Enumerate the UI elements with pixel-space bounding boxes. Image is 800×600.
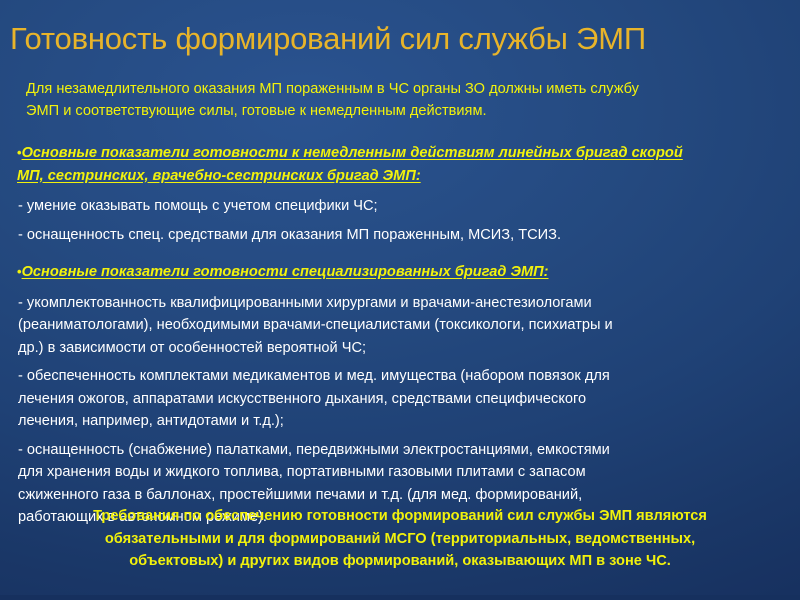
spacer: [16, 131, 786, 142]
section-1-item-1-line-1: - умение оказывать помощь с учетом специ…: [18, 195, 782, 218]
section-1-item-2-line-1: - оснащенность спец. средствами для оказ…: [18, 224, 782, 247]
section-1-heading-text-2: МП, сестринских, врачебно-сестринских бр…: [17, 168, 421, 184]
intro-paragraph: Для незамедлительного оказания МП пораже…: [16, 78, 786, 122]
section-1-heading-line-1: •Основные показатели готовности к немедл…: [17, 142, 786, 165]
section-1-item-2: - оснащенность спец. средствами для оказ…: [16, 224, 786, 247]
section-1-item-1: - умение оказывать помощь с учетом специ…: [16, 195, 786, 218]
section-2-item-1-line-1: - укомплектованность квалифицированными …: [18, 292, 782, 315]
slide-canvas: Готовность формирований сил службы ЭМП Д…: [0, 0, 800, 600]
intro-line-1: Для незамедлительного оказания МП пораже…: [26, 78, 778, 100]
section-2-item-3-line-2: для хранения воды и жидкого топлива, пор…: [18, 461, 782, 484]
section-2-item-2: - обеспеченность комплектами медикаменто…: [16, 365, 786, 433]
page-title: Готовность формирований сил службы ЭМП: [10, 20, 790, 58]
section-2-item-2-line-2: лечения ожогов, аппаратами искусственног…: [18, 388, 782, 411]
section-2-item-3-line-1: - оснащенность (снабжение) палатками, пе…: [18, 439, 782, 462]
section-2-item-2-line-3: лечения, например, антидотами и т.д.);: [18, 410, 782, 433]
footer-line-2: обязательными и для формирований МСГО (т…: [55, 528, 745, 551]
section-2-heading-text-1: Основные показатели готовности специализ…: [22, 264, 549, 280]
slide-body: Для незамедлительного оказания МП пораже…: [16, 78, 786, 529]
section-2-item-2-line-1: - обеспеченность комплектами медикаменто…: [18, 365, 782, 388]
section-2-item-1-line-3: др.) в зависимости от особенностей вероя…: [18, 337, 782, 360]
section-2-heading: •Основные показатели готовности специали…: [16, 261, 786, 284]
section-2-item-1: - укомплектованность квалифицированными …: [16, 292, 786, 360]
section-2-item-1-line-2: (реаниматологами), необходимыми врачами-…: [18, 314, 782, 337]
footer-line-3: объектовых) и других видов формирований,…: [55, 550, 745, 573]
section-2-heading-line-1: •Основные показатели готовности специали…: [17, 261, 786, 284]
section-1-heading-line-2: МП, сестринских, врачебно-сестринских бр…: [17, 165, 786, 188]
intro-line-2: ЭМП и соответствующие силы, готовые к не…: [26, 100, 778, 122]
footer-conclusion: Требования по обеспечению готовности фор…: [55, 505, 745, 573]
section-2-item-3-line-3: сжиженного газа в баллонах, простейшими …: [18, 484, 782, 507]
section-1-heading: •Основные показатели готовности к немедл…: [16, 142, 786, 187]
section-1-heading-text-1: Основные показатели готовности к немедле…: [22, 145, 683, 161]
spacer: [16, 246, 786, 261]
footer-line-1: Требования по обеспечению готовности фор…: [55, 505, 745, 528]
